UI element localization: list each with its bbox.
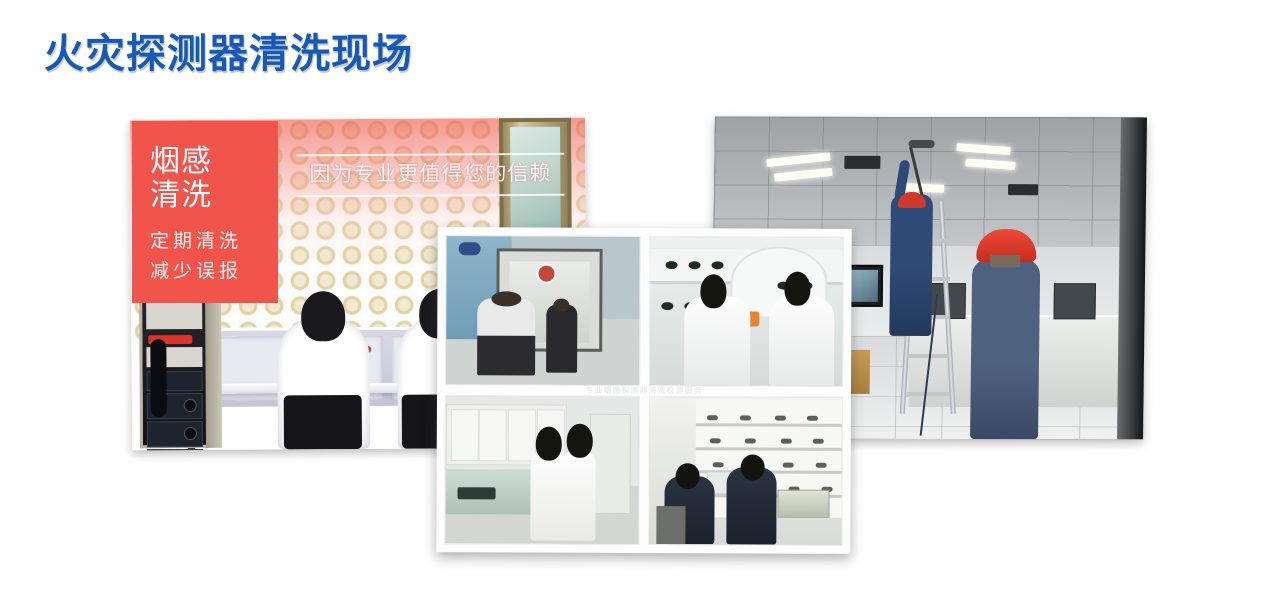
- worker-red-helmet: [898, 192, 926, 208]
- rack-cable: [150, 339, 166, 417]
- cabinet-door: [450, 409, 478, 461]
- fire-safety-emblem-icon: [537, 263, 557, 283]
- collage-cell-detector-shelves[interactable]: [648, 396, 843, 546]
- seated-technician: [726, 468, 776, 545]
- washing-technician: [530, 449, 565, 541]
- stored-detector: [707, 415, 718, 420]
- badge-sub-line1: 定期清洗: [150, 227, 278, 257]
- assisting-technician: [561, 449, 596, 541]
- technician-person: [546, 304, 577, 372]
- photo-slogan: 因为专业更值得您的信赖: [296, 148, 564, 203]
- rack-side-panel: [205, 291, 222, 448]
- slogan-rule-top: [296, 153, 564, 157]
- dark-pillar: [1117, 117, 1147, 439]
- ladder-step: [906, 392, 948, 396]
- stored-detector: [713, 462, 724, 467]
- inspector-person: [477, 298, 535, 375]
- smoke-detector-cleaning-badge[interactable]: 烟感 清洗 定期清洗 减少误报: [132, 121, 278, 303]
- collage-cell-wash-bench[interactable]: [444, 395, 639, 545]
- console-monitor: [1054, 283, 1096, 319]
- technician-hair: [700, 274, 726, 308]
- stored-detector: [815, 463, 826, 468]
- room-door: [590, 414, 631, 514]
- technician-hair: [785, 271, 811, 305]
- cabinet-door: [508, 409, 536, 461]
- rack-knob: [184, 427, 197, 440]
- collage-cell-microscope-bench[interactable]: [649, 236, 844, 386]
- work-site-collage[interactable]: 专业烟感探测器清洗检测服务: [436, 227, 851, 554]
- stored-detector: [813, 439, 824, 444]
- office-chair: [657, 506, 686, 544]
- shelf-row: [695, 447, 841, 451]
- supervisor-with-hard-hat: [970, 259, 1040, 439]
- stored-detector: [745, 439, 756, 444]
- detector-part: [689, 261, 701, 269]
- technician-hair: [567, 424, 593, 458]
- lab-worker-head: [301, 291, 345, 341]
- slogan-rule-bottom: [296, 194, 564, 198]
- test-instrument: [778, 489, 830, 518]
- technician-head: [554, 298, 570, 312]
- rack-module: [147, 449, 203, 451]
- control-equipment-rack: [139, 292, 210, 449]
- detector-part: [712, 261, 724, 269]
- badge-heading-line2: 清洗: [150, 179, 278, 213]
- slogan-text: 因为专业更值得您的信赖: [296, 160, 564, 190]
- technician-hair: [536, 427, 562, 461]
- badge-heading-line1: 烟感: [150, 145, 278, 179]
- page-title: 火灾探测器清洗现场: [44, 30, 413, 78]
- stored-detector: [739, 415, 750, 420]
- cabinet-door: [479, 409, 507, 461]
- rack-panel: [146, 301, 202, 329]
- stored-detector: [807, 415, 818, 420]
- technician-head: [740, 454, 764, 480]
- bench-sink: [457, 487, 496, 499]
- ladder-rail: [938, 201, 955, 413]
- technician-head: [675, 463, 699, 489]
- detector-part: [661, 302, 673, 310]
- rack-knob: [184, 399, 197, 412]
- lab-technician-white-coat: [769, 297, 835, 386]
- stored-detector: [775, 415, 786, 420]
- badge-sub-line2: 减少误报: [150, 257, 278, 287]
- worker-on-ladder: [889, 194, 933, 336]
- collage-cell-corridor[interactable]: [445, 235, 640, 385]
- shelf-row: [696, 423, 842, 427]
- stored-detector: [710, 439, 721, 444]
- chair-back: [284, 395, 362, 449]
- ceiling-vent: [1008, 184, 1038, 195]
- inspector-head: [491, 291, 521, 306]
- stored-detector: [783, 463, 794, 468]
- collage-grid: [444, 235, 843, 546]
- stored-detector: [780, 439, 791, 444]
- lab-technician-white-coat: [684, 296, 750, 385]
- slide-canvas: 火灾探测器清洗现场: [0, 0, 1280, 615]
- detector-part: [665, 261, 677, 269]
- corridor-wall-sign: [458, 242, 480, 255]
- ceiling-vent: [844, 155, 880, 168]
- cleaning-pole-head: [909, 140, 935, 148]
- supervisor-neck: [990, 255, 1020, 267]
